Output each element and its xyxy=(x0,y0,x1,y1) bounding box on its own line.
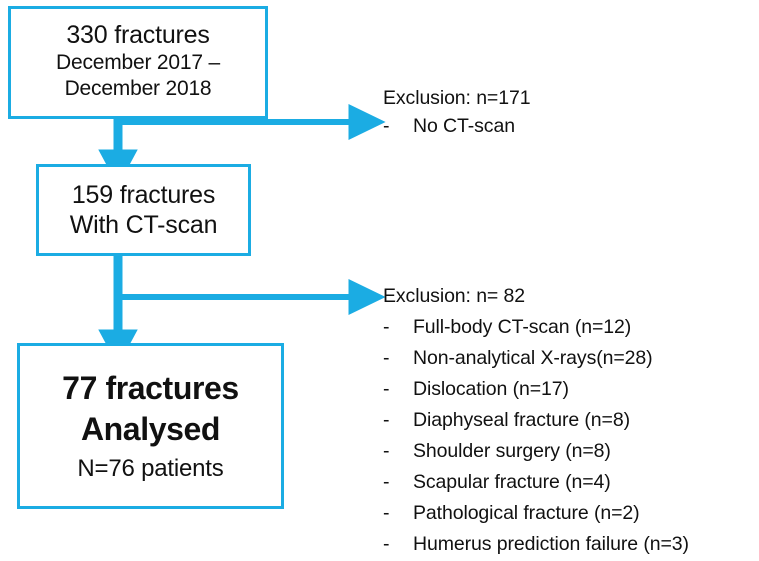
dash-bullet-icon: - xyxy=(383,115,413,138)
flowchart-canvas: 330 fractures December 2017 – December 2… xyxy=(0,0,759,561)
dash-bullet-icon: - xyxy=(383,436,413,467)
exclusion-reason-item: - No CT-scan xyxy=(383,115,530,138)
exclusion-reason-item: - Scapular fracture (n=4) xyxy=(383,467,689,498)
dash-bullet-icon: - xyxy=(383,405,413,436)
exclusion-reason-label: Non-analytical X-rays(n=28) xyxy=(413,343,653,374)
exclusion-heading: Exclusion: n= 82 xyxy=(383,285,689,308)
exclusion-reason-label: Shoulder surgery (n=8) xyxy=(413,436,611,467)
exclusion-reason-label: Pathological fracture (n=2) xyxy=(413,498,640,529)
box-analysed-line-3: N=76 patients xyxy=(77,454,223,483)
exclusion-reason-label: Humerus prediction failure (n=3) xyxy=(413,529,689,560)
box-analysed-cohort: 77 fractures Analysed N=76 patients xyxy=(17,343,284,509)
exclusion-reason-label: Scapular fracture (n=4) xyxy=(413,467,611,498)
exclusion-reason-item: - Full-body CT-scan (n=12) xyxy=(383,312,689,343)
box-with-ct-scan: 159 fractures With CT-scan xyxy=(36,164,251,256)
exclusion-reason-item: - Humerus prediction failure (n=3) xyxy=(383,529,689,560)
box-source-line-2: December 2017 – xyxy=(56,50,220,76)
dash-bullet-icon: - xyxy=(383,312,413,343)
exclusion-reason-list: - No CT-scan xyxy=(383,115,530,138)
dash-bullet-icon: - xyxy=(383,374,413,405)
box-source-cohort: 330 fractures December 2017 – December 2… xyxy=(8,6,268,119)
dash-bullet-icon: - xyxy=(383,498,413,529)
box-analysed-line-2: Analysed xyxy=(81,409,220,450)
exclusion-reason-label: Full-body CT-scan (n=12) xyxy=(413,312,631,343)
exclusion-reason-item: - Pathological fracture (n=2) xyxy=(383,498,689,529)
exclusion-reason-item: - Diaphyseal fracture (n=8) xyxy=(383,405,689,436)
exclusion-note-first: Exclusion: n=171 - No CT-scan xyxy=(383,87,530,138)
dash-bullet-icon: - xyxy=(383,343,413,374)
exclusion-reason-item: - Non-analytical X-rays(n=28) xyxy=(383,343,689,374)
dash-bullet-icon: - xyxy=(383,467,413,498)
exclusion-reason-label: No CT-scan xyxy=(413,115,515,138)
exclusion-reason-item: - Dislocation (n=17) xyxy=(383,374,689,405)
exclusion-reason-label: Diaphyseal fracture (n=8) xyxy=(413,405,630,436)
exclusion-heading: Exclusion: n=171 xyxy=(383,87,530,110)
exclusion-reason-item: - Shoulder surgery (n=8) xyxy=(383,436,689,467)
box-withct-line-1: 159 fractures xyxy=(72,180,215,211)
box-analysed-line-1: 77 fractures xyxy=(62,368,239,409)
box-withct-line-2: With CT-scan xyxy=(70,210,218,241)
exclusion-reason-label: Dislocation (n=17) xyxy=(413,374,569,405)
dash-bullet-icon: - xyxy=(383,529,413,560)
box-source-line-1: 330 fractures xyxy=(66,20,209,51)
exclusion-note-second: Exclusion: n= 82 - Full-body CT-scan (n=… xyxy=(383,285,689,560)
box-source-line-3: December 2018 xyxy=(65,76,212,102)
exclusion-reason-list: - Full-body CT-scan (n=12) - Non-analyti… xyxy=(383,312,689,560)
